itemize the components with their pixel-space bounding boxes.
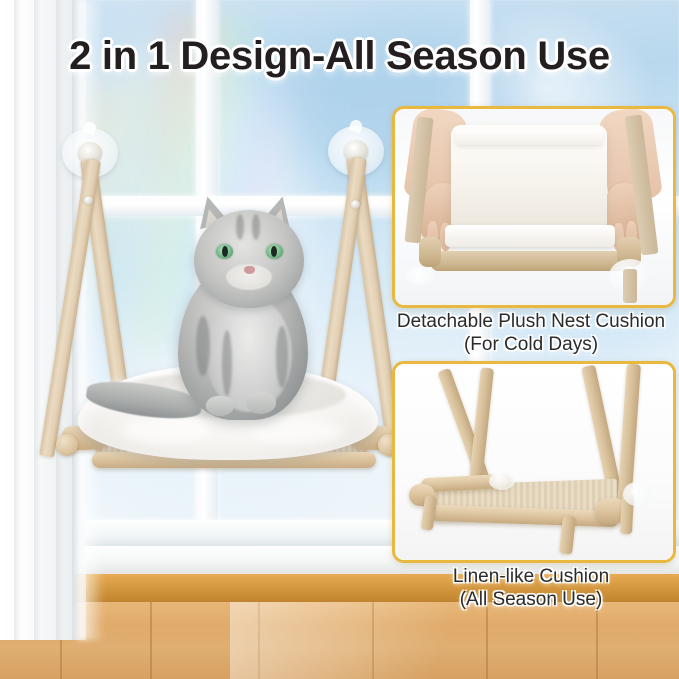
frame-corner-left bbox=[419, 237, 441, 267]
screw-icon bbox=[351, 200, 360, 209]
cat-fur-stripe bbox=[222, 330, 232, 396]
plush-texture bbox=[248, 420, 344, 444]
cat-head bbox=[194, 210, 304, 308]
linen-frame-bar bbox=[431, 251, 627, 271]
plush-cushion-back-edge bbox=[455, 129, 603, 145]
floor-light-reflection bbox=[230, 602, 530, 679]
strap-tail bbox=[623, 269, 637, 303]
caption-line-1: Detachable Plush Nest Cushion bbox=[397, 311, 665, 332]
caption-linen-cushion: Linen-like Cushion (All Season Use) bbox=[386, 565, 676, 611]
product-image: 2 in 1 Design-All Season Use Detachable … bbox=[0, 0, 679, 679]
plush-texture bbox=[120, 418, 210, 444]
inset-linen-cushion bbox=[392, 361, 676, 563]
suction-cup-mount bbox=[489, 472, 515, 490]
caption-line-2: (All Season Use) bbox=[386, 588, 676, 611]
plush-cushion-front-edge bbox=[445, 225, 615, 247]
cat-fur-stripe bbox=[276, 326, 288, 388]
inset-detachable-cushion bbox=[392, 106, 676, 308]
cat-eye-left bbox=[216, 244, 233, 259]
cat-eye-right bbox=[266, 244, 283, 259]
suction-cup-mount bbox=[623, 482, 651, 506]
cat-nose bbox=[244, 266, 255, 274]
suction-cup-mount bbox=[405, 267, 439, 285]
page-title: 2 in 1 Design-All Season Use bbox=[0, 34, 679, 79]
caption-detachable-cushion: Detachable Plush Nest Cushion (For Cold … bbox=[386, 310, 676, 356]
cat-forehead-stripe bbox=[236, 214, 244, 240]
curtain-edge-glow bbox=[78, 0, 104, 640]
caption-line-1: Linen-like Cushion bbox=[453, 566, 609, 587]
cat-fur-stripe bbox=[196, 316, 210, 376]
caption-line-2: (For Cold Days) bbox=[386, 333, 676, 356]
cat-forehead-stripe bbox=[252, 214, 260, 240]
screw-icon bbox=[84, 196, 93, 205]
cat-paw bbox=[246, 392, 276, 414]
cat-paw bbox=[206, 396, 234, 416]
rail-end-cap-left bbox=[56, 434, 78, 456]
